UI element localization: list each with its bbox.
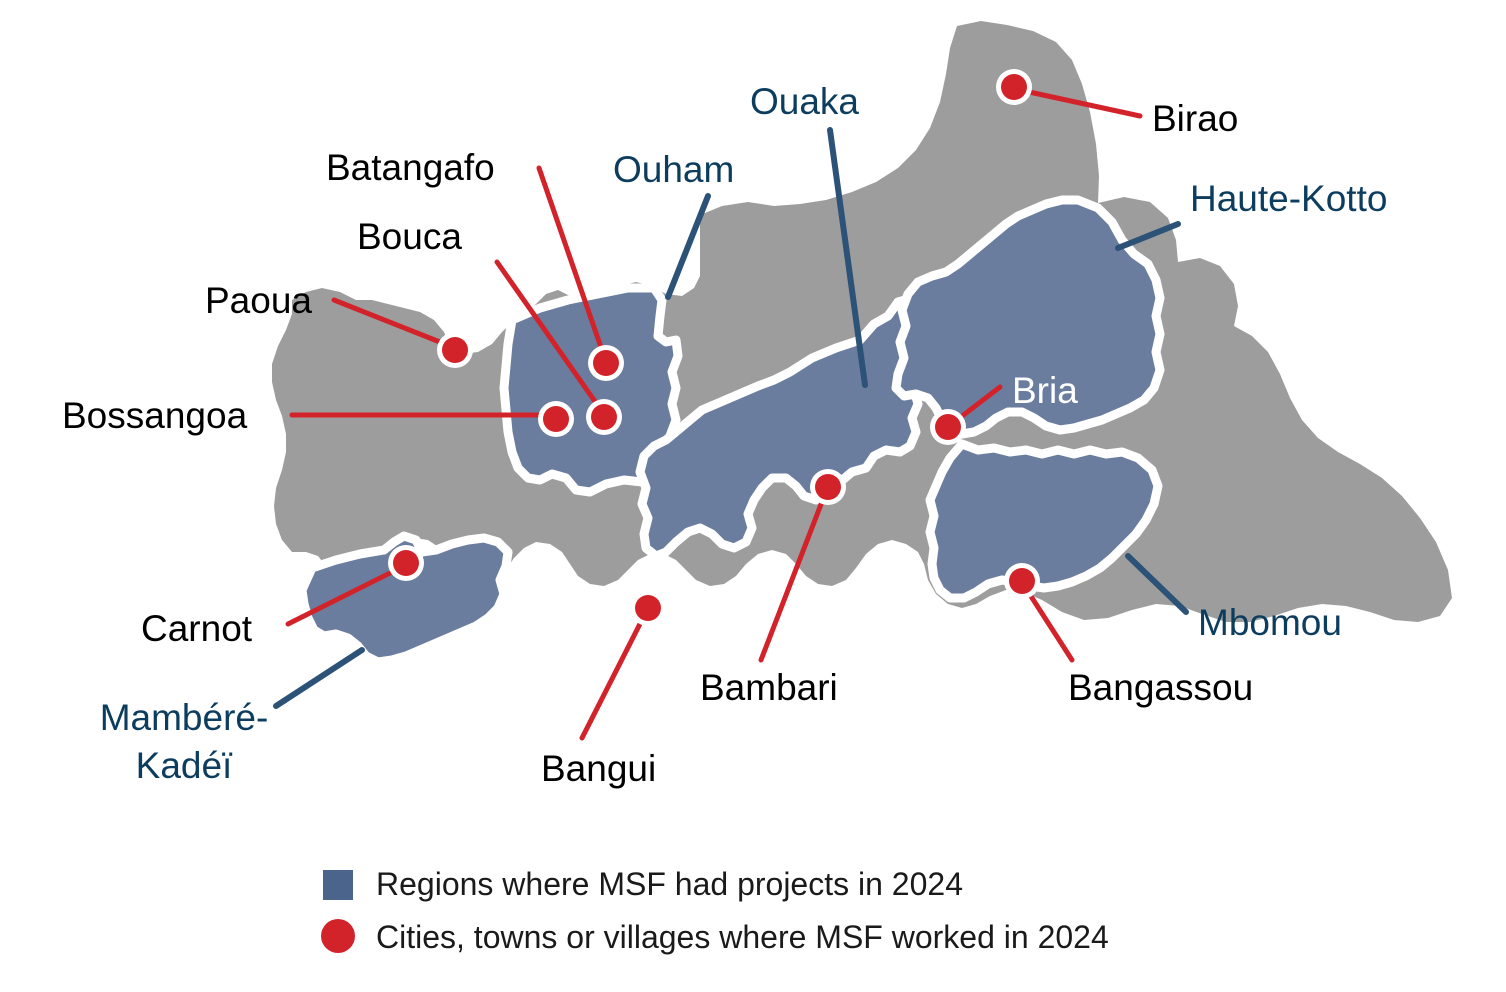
city-dot-bangui[interactable] xyxy=(630,590,666,626)
city-dot-bossangoa[interactable] xyxy=(538,401,574,437)
city-dot-bambari[interactable] xyxy=(810,469,846,505)
city-dot-birao[interactable] xyxy=(996,69,1032,105)
city-dot-bangassou[interactable] xyxy=(1004,563,1040,599)
legend-swatch-region xyxy=(323,870,353,900)
region-label-ouaka: Ouaka xyxy=(750,81,859,122)
city-label-bangassou: Bangassou xyxy=(1068,667,1253,708)
city-dot-batangafo[interactable] xyxy=(588,345,624,381)
city-label-bambari: Bambari xyxy=(700,667,838,708)
legend-label-city: Cities, towns or villages where MSF work… xyxy=(376,919,1109,955)
legend-label-region: Regions where MSF had projects in 2024 xyxy=(376,866,963,902)
map-container: Ouham Ouaka Haute-Kotto Mbomou Mambéré- … xyxy=(0,0,1506,992)
region-label-ouham: Ouham xyxy=(613,149,734,190)
city-dot-bouca[interactable] xyxy=(586,399,622,435)
city-label-batangafo: Batangafo xyxy=(326,147,495,188)
region-label-mambere-kadei-line2: Kadéï xyxy=(136,745,233,786)
region-label-mambere-kadei-line1: Mambéré- xyxy=(100,697,269,738)
city-label-bria: Bria xyxy=(1012,370,1078,411)
city-label-carnot: Carnot xyxy=(141,608,253,649)
city-dot-paoua[interactable] xyxy=(437,332,473,368)
central-african-republic-map: Ouham Ouaka Haute-Kotto Mbomou Mambéré- … xyxy=(0,0,1506,992)
region-label-haute-kotto: Haute-Kotto xyxy=(1190,178,1387,219)
city-label-birao: Birao xyxy=(1152,98,1238,139)
city-dot-bria[interactable] xyxy=(930,409,966,445)
city-label-bangui: Bangui xyxy=(541,748,656,789)
city-label-paoua: Paoua xyxy=(205,280,312,321)
city-label-bouca: Bouca xyxy=(357,216,462,257)
city-label-bossangoa: Bossangoa xyxy=(62,395,248,436)
legend-swatch-city-dot xyxy=(321,919,355,953)
city-dot-carnot[interactable] xyxy=(388,545,424,581)
region-label-mbomou: Mbomou xyxy=(1198,602,1342,643)
